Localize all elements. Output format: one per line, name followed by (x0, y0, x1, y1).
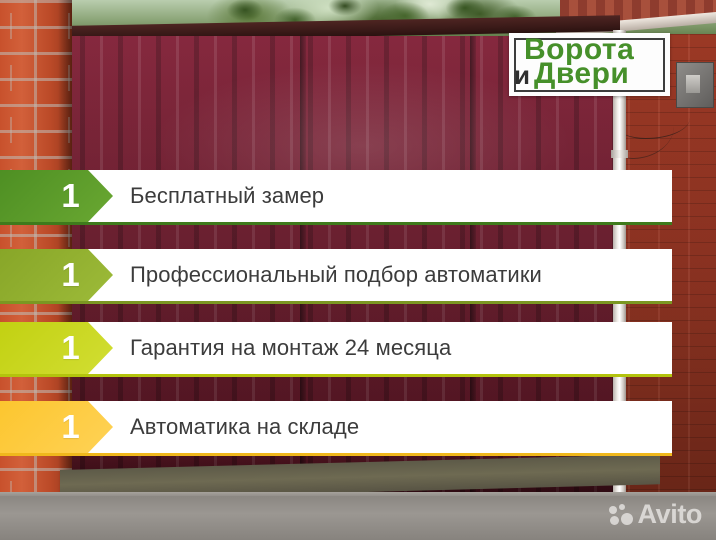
feature-number-2: 1 (61, 258, 79, 291)
feature-row-3: 1 Гарантия на монтаж 24 месяца (0, 322, 672, 374)
feature-underline-2 (0, 301, 672, 304)
feature-label-3: Гарантия на монтаж 24 месяца (130, 322, 451, 374)
feature-row-1: 1 Бесплатный замер (0, 170, 672, 222)
feature-row-4: 1 Автоматика на складе (0, 401, 672, 453)
feature-number-1: 1 (61, 179, 79, 212)
feature-number-4: 1 (61, 410, 79, 443)
avito-watermark: Avito (609, 501, 703, 528)
feature-row-2: 1 Профессиональный подбор автоматики (0, 249, 672, 301)
advertisement-image: Ворота и Двери 1 Бесплатный замер 1 Про (0, 0, 716, 540)
feature-label-4: Автоматика на складе (130, 401, 359, 453)
avito-dots-icon (609, 504, 633, 526)
feature-label-2: Профессиональный подбор автоматики (130, 249, 542, 301)
feature-underline-4 (0, 453, 672, 456)
feature-list: 1 Бесплатный замер 1 Профессиональный по… (0, 0, 716, 540)
feature-underline-1 (0, 222, 672, 225)
feature-label-1: Бесплатный замер (130, 170, 324, 222)
feature-number-3: 1 (61, 331, 79, 364)
avito-brand-text: Avito (638, 501, 703, 528)
feature-underline-3 (0, 374, 672, 377)
